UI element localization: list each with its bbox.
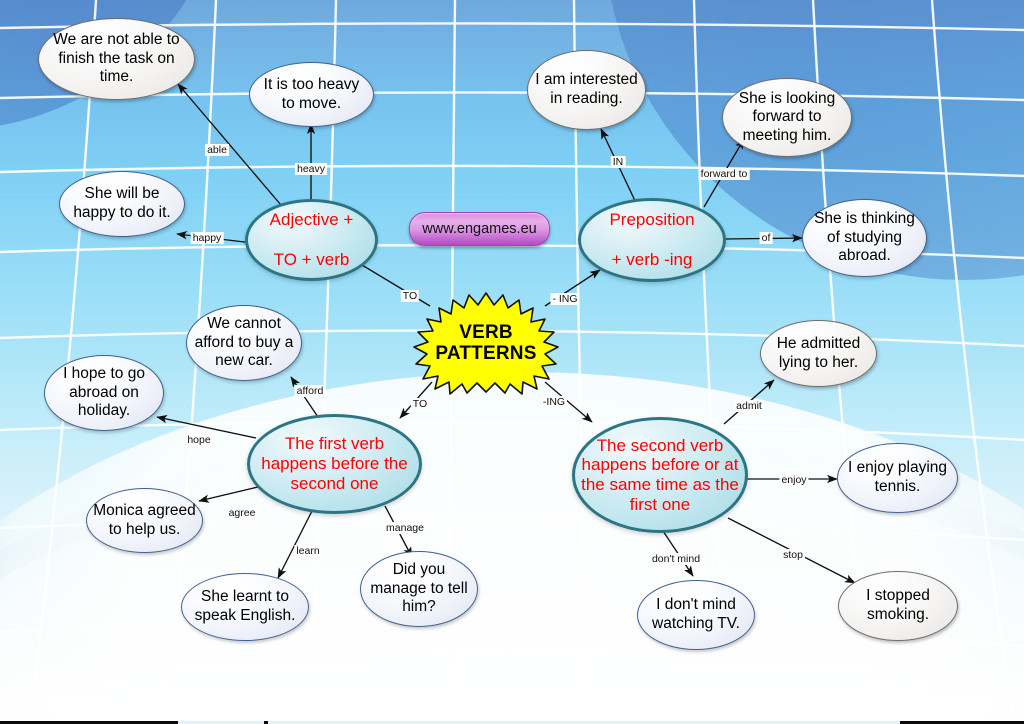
example-node-able[interactable]: We are not able to finish the task on ti… [38, 18, 195, 100]
example-node-admit-label: He admitted lying to her. [761, 335, 876, 372]
watermark-label: www.engames.eu [422, 221, 536, 237]
edge-label-stop: stop [781, 549, 805, 561]
example-node-afford[interactable]: We cannot afford to buy a new car. [186, 305, 302, 381]
main-node-adjective-line1: Adjective + [254, 210, 369, 230]
link-preposition-in [601, 129, 638, 207]
example-node-stop[interactable]: I stopped smoking. [838, 571, 958, 641]
main-node-preposition-label: Preposition + verb -ing [581, 210, 723, 269]
example-node-hope-label: I hope to go abroad on holiday. [45, 365, 163, 421]
edge-label-admit: admit [734, 400, 764, 412]
main-node-first-verb-label: The first verb happens before the second… [250, 434, 419, 493]
edge-label-able: able [205, 144, 229, 156]
edge-label-to-first-verb: TO [411, 398, 429, 410]
example-node-interested-in[interactable]: I am interested in reading. [527, 50, 646, 130]
example-node-thinking-of-label: She is thinking of studying abroad. [803, 210, 926, 266]
example-node-hope[interactable]: I hope to go abroad on holiday. [44, 355, 164, 431]
edge-label-manage: manage [384, 522, 426, 534]
edge-label-learn: learn [294, 545, 321, 557]
example-node-dont-mind-label: I don't mind watching TV. [638, 596, 754, 633]
example-node-thinking-of[interactable]: She is thinking of studying abroad. [802, 199, 927, 277]
example-node-afford-label: We cannot afford to buy a new car. [187, 315, 301, 371]
example-node-manage[interactable]: Did you manage to tell him? [360, 551, 478, 627]
main-node-second-verb-label: The second verb happens before or at the… [575, 436, 745, 515]
example-node-enjoy-label: I enjoy playing tennis. [838, 459, 957, 496]
example-node-happy-label: She will be happy to do it. [60, 185, 184, 222]
central-topic-line1: VERB [435, 322, 536, 343]
central-topic-label: VERB PATTERNS [412, 291, 560, 395]
link-firstverb-learn [278, 509, 313, 578]
example-node-admit[interactable]: He admitted lying to her. [760, 320, 877, 387]
main-node-second-verb-before-or-same-time[interactable]: The second verb happens before or at the… [572, 417, 748, 533]
central-topic-line2: PATTERNS [435, 343, 536, 364]
main-node-preposition-verb-ing[interactable]: Preposition + verb -ing [578, 198, 726, 282]
edge-label-happy: happy [191, 232, 224, 244]
edge-label-forward-to: forward to [699, 168, 750, 180]
example-node-agree[interactable]: Monica agreed to help us. [86, 488, 203, 553]
edge-label-ing-preposition: - ING [550, 293, 579, 305]
example-node-stop-label: I stopped smoking. [839, 587, 957, 624]
example-node-looking-forward-to-label: She is looking forward to meeting him. [723, 90, 851, 146]
example-node-learn-label: She learnt to speak English. [182, 588, 308, 625]
main-node-preposition-line2: + verb -ing [587, 250, 717, 270]
example-node-manage-label: Did you manage to tell him? [361, 561, 477, 617]
edge-label-afford: afford [295, 385, 326, 397]
example-node-interested-in-label: I am interested in reading. [528, 71, 645, 108]
edge-label-of: of [760, 232, 773, 244]
main-node-adjective-line2: TO + verb [254, 250, 369, 270]
example-node-agree-label: Monica agreed to help us. [87, 502, 202, 539]
example-node-happy[interactable]: She will be happy to do it. [59, 171, 185, 237]
edge-label-dont-mind: don't mind [650, 553, 702, 565]
edge-label-enjoy: enjoy [779, 474, 808, 486]
edge-label-hope: hope [185, 434, 212, 446]
link-secondverb-mind [661, 528, 693, 576]
main-node-adjective-label: Adjective + TO + verb [248, 210, 375, 269]
example-node-looking-forward-to[interactable]: She is looking forward to meeting him. [722, 78, 852, 157]
edge-label-ing-second-verb: -ING [541, 396, 567, 408]
edge-label-heavy: heavy [295, 163, 327, 175]
example-node-enjoy[interactable]: I enjoy playing tennis. [837, 443, 958, 513]
main-node-preposition-line1: Preposition [587, 210, 717, 230]
example-node-able-label: We are not able to finish the task on ti… [39, 31, 194, 87]
central-topic-star: VERB PATTERNS [412, 291, 560, 395]
main-node-first-verb-before-second[interactable]: The first verb happens before the second… [247, 414, 422, 514]
edge-label-agree: agree [227, 507, 258, 519]
edge-label-to-adjective: TO [401, 290, 419, 302]
example-node-learn[interactable]: She learnt to speak English. [181, 573, 309, 641]
edge-label-in: IN [611, 156, 626, 168]
example-node-heavy[interactable]: It is too heavy to move. [249, 62, 374, 127]
example-node-heavy-label: It is too heavy to move. [250, 76, 373, 113]
watermark-badge[interactable]: www.engames.eu [409, 212, 550, 246]
main-node-adjective-to-verb[interactable]: Adjective + TO + verb [245, 199, 378, 281]
example-node-dont-mind[interactable]: I don't mind watching TV. [637, 580, 755, 650]
mindmap-canvas: VERB PATTERNS www.engames.eu Adjective +… [0, 0, 1024, 724]
link-firstverb-afford [291, 377, 318, 417]
